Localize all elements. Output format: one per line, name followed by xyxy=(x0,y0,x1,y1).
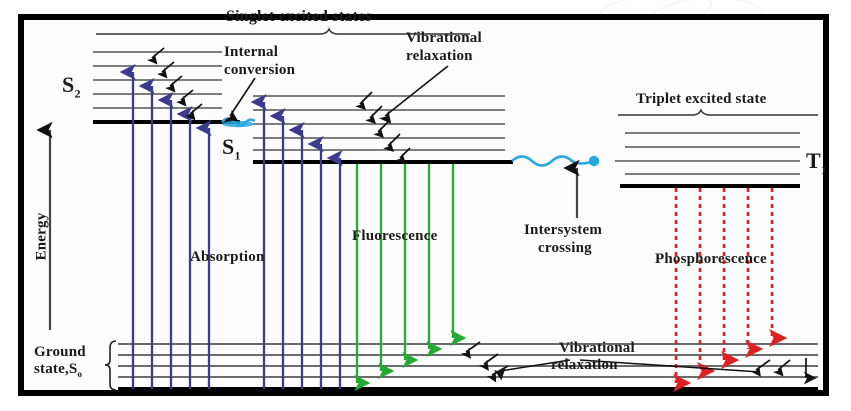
ground-state-label: Ground state,So xyxy=(34,344,86,383)
ground-state-label-line1: Ground xyxy=(34,344,86,361)
state-label-t1: T1 xyxy=(806,148,827,177)
phosphorescence-label: Phosphorescence xyxy=(655,251,767,268)
state-t1-levels xyxy=(615,133,800,186)
intersystem-crossing-label-line1: Intersystem xyxy=(524,222,602,239)
vibrational-relaxation-s2 xyxy=(152,48,202,114)
ground-state-brace xyxy=(105,341,116,390)
s1-subscript: 1 xyxy=(234,148,240,162)
state-s1-levels xyxy=(253,96,513,162)
intersystem-crossing-wavy-icon xyxy=(512,157,594,166)
vibrational-relaxation-top-label-line2: relaxation xyxy=(406,48,473,65)
triplet-group-brace xyxy=(618,110,818,115)
absorption-arrows-s1 xyxy=(264,102,340,389)
state-label-s1: S1 xyxy=(222,134,241,163)
intersystem-crossing-label-line2: crossing xyxy=(538,240,592,257)
state-s2-levels xyxy=(93,52,240,122)
internal-conversion-wavy-icon xyxy=(222,119,255,128)
ground-state-subscript: o xyxy=(77,369,82,379)
ground-state-label-line2: state,So xyxy=(34,361,86,383)
internal-conversion-label-line1: Internal xyxy=(224,44,278,61)
absorption-arrows-s2 xyxy=(133,72,209,389)
energy-axis-label: Energy xyxy=(34,192,51,282)
vibrational-relaxation-bottom-label-line1: Vibrational xyxy=(559,340,635,357)
s2-subscript: 2 xyxy=(74,86,80,100)
t1-subscript: 1 xyxy=(821,162,827,176)
singlet-group-label: Singlet excited states xyxy=(226,8,372,26)
jablonski-diagram-figure: Singlet excited states Triplet excited s… xyxy=(0,0,851,411)
fluorescence-arrows xyxy=(357,164,453,383)
internal-conversion-pointer xyxy=(230,78,255,116)
absorption-label: Absorption xyxy=(190,249,265,266)
vibrational-relaxation-pointer-top xyxy=(385,66,448,116)
vibrational-relaxation-top-label-line1: Vibrational xyxy=(406,30,482,47)
vibrational-relaxation-bottom-label-line2: relaxation xyxy=(551,357,618,374)
energy-axis-label-text: Energy xyxy=(34,213,50,261)
triplet-group-label: Triplet excited state xyxy=(636,91,767,108)
internal-conversion-label-line2: conversion xyxy=(224,62,295,79)
fluorescence-label: Fluorescence xyxy=(352,228,437,245)
state-label-s2: S2 xyxy=(62,72,81,101)
phosphorescence-arrows xyxy=(676,188,772,383)
vibrational-relaxation-s0-right xyxy=(756,358,806,378)
